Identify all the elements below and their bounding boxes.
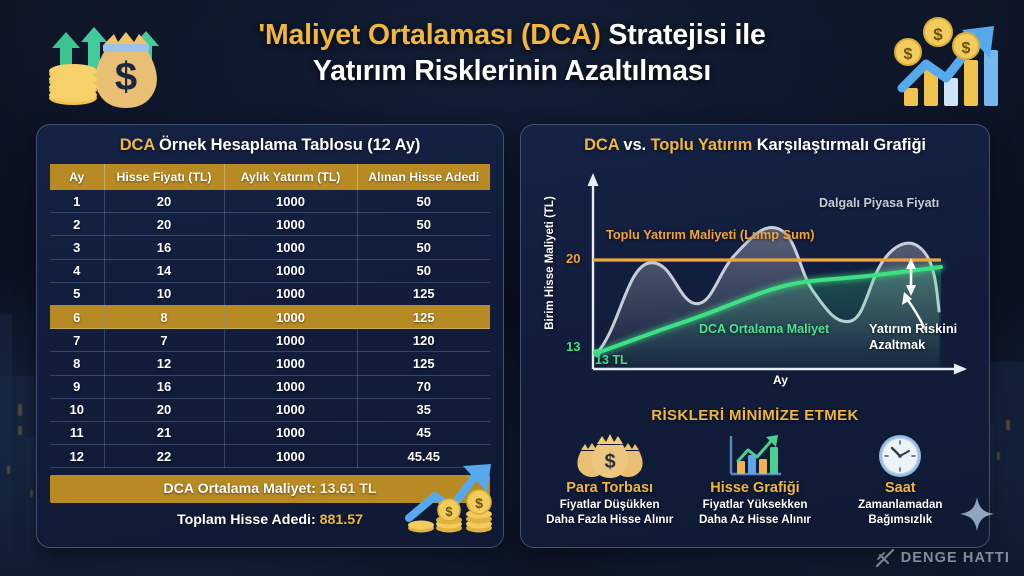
skyline-light xyxy=(30,490,33,497)
price-cell: 22 xyxy=(104,445,224,468)
price-cell: 20 xyxy=(104,213,224,236)
feature-desc-line-1: Fiyatlar Düşükken xyxy=(538,498,682,513)
table-row[interactable]: 5101000125 xyxy=(50,282,490,305)
shares-cell: 45 xyxy=(357,421,490,444)
table-title-rest: Örnek Hesaplama Tablosu (12 Ay) xyxy=(155,136,421,154)
chart-risk-annotation: Yatırım Riskini Azaltmak xyxy=(869,321,957,352)
table-row[interactable]: 681000125 xyxy=(50,305,490,328)
feature-card-para-torbasi: $ Para Torbası Fiyatlar Düşükken Daha Fa… xyxy=(538,433,682,528)
svg-text:$: $ xyxy=(445,504,453,519)
shares-cell: 70 xyxy=(357,375,490,398)
feature-title: Para Torbası xyxy=(538,480,682,496)
table-body: 1201000502201000503161000504141000505101… xyxy=(50,190,490,468)
investment-cell: 1000 xyxy=(224,259,357,282)
footer-total-value: 881.57 xyxy=(320,512,363,528)
price-cell: 10 xyxy=(104,282,224,305)
table-header-row: Ay Hisse Fiyatı (TL) Aylık Yatırım (TL) … xyxy=(50,164,490,190)
shares-cell: 125 xyxy=(357,352,490,375)
chart-title-dca: DCA xyxy=(584,136,619,154)
column-header-aylik-yatirim: Aylık Yatırım (TL) xyxy=(224,164,357,190)
investment-cell: 1000 xyxy=(224,421,357,444)
table-row[interactable]: 8121000125 xyxy=(50,352,490,375)
chart-y-axis-label: Birim Hisse Maliyeti (TL) xyxy=(544,189,556,337)
investment-cell: 1000 xyxy=(224,236,357,259)
month-cell: 3 xyxy=(50,236,104,259)
investment-cell: 1000 xyxy=(224,190,357,213)
investment-cell: 1000 xyxy=(224,305,357,328)
month-cell: 9 xyxy=(50,375,104,398)
month-cell: 5 xyxy=(50,282,104,305)
feature-desc-line-2: Bağımsızlık xyxy=(828,513,972,528)
shares-cell: 125 xyxy=(357,305,490,328)
investment-cell: 1000 xyxy=(224,282,357,305)
investment-cell: 1000 xyxy=(224,445,357,468)
feature-title: Saat xyxy=(828,480,972,496)
footer-total-label: Toplam Hisse Adedi: xyxy=(177,512,320,528)
investment-cell: 1000 xyxy=(224,352,357,375)
coin-stack-arrow-icon: $ $ xyxy=(405,456,497,541)
dca-calculation-table: Ay Hisse Fiyatı (TL) Aylık Yatırım (TL) … xyxy=(50,164,490,468)
month-cell: 6 xyxy=(50,305,104,328)
title-highlight-dca: 'Maliyet Ortalaması (DCA) xyxy=(258,19,600,51)
sparkle-icon xyxy=(960,497,994,536)
shares-cell: 120 xyxy=(357,329,490,352)
feature-title: Hisse Grafiği xyxy=(683,480,827,496)
chart-panel-title: DCA vs. Toplu Yatırım Karşılaştırmalı Gr… xyxy=(521,136,989,155)
skyline-light xyxy=(18,404,22,416)
column-header-ay: Ay xyxy=(50,164,104,190)
svg-text:$: $ xyxy=(604,451,615,473)
page-title-line-1: 'Maliyet Ortalaması (DCA) Stratejisi ile xyxy=(0,18,1024,54)
shares-cell: 35 xyxy=(357,398,490,421)
chart-title-toplu: Toplu Yatırım xyxy=(651,136,753,154)
watermark: DENGE HATTI xyxy=(874,547,1010,569)
chart-x-axis-label: Ay xyxy=(773,373,788,387)
month-cell: 12 xyxy=(50,445,104,468)
shares-cell: 125 xyxy=(357,282,490,305)
price-cell: 14 xyxy=(104,259,224,282)
denge-hatti-logo-icon xyxy=(874,547,896,569)
feature-card-saat: Saat Zamanlamadan Bağımsızlık xyxy=(828,433,972,528)
dca-vs-lumpsum-chart: Birim Hisse Maliyeti (TL) Ay 20 13 13 TL… xyxy=(521,161,990,393)
shares-cell: 50 xyxy=(357,213,490,236)
chart-dca-label: DCA Ortalama Maliyet xyxy=(699,322,829,336)
skyline-light xyxy=(7,466,10,474)
dca-table-panel: DCA Örnek Hesaplama Tablosu (12 Ay) Ay H… xyxy=(36,124,504,548)
price-cell: 12 xyxy=(104,352,224,375)
price-cell: 20 xyxy=(104,190,224,213)
risk-annotation-line-2: Azaltmak xyxy=(869,337,957,353)
chart-title-vs: vs. xyxy=(619,136,651,154)
footer-average-value: 13.61 TL xyxy=(320,481,377,497)
feature-description: Fiyatlar Yüksekken Daha Az Hisse Alınır xyxy=(683,498,827,528)
risk-section-heading: RİSKLERİ MİNİMİZE ETMEK xyxy=(521,407,989,424)
month-cell: 11 xyxy=(50,421,104,444)
month-cell: 7 xyxy=(50,329,104,352)
price-cell: 21 xyxy=(104,421,224,444)
comparison-chart-panel: DCA vs. Toplu Yatırım Karşılaştırmalı Gr… xyxy=(520,124,990,548)
feature-description: Zamanlamadan Bağımsızlık xyxy=(828,498,972,528)
chart-start-value-label: 13 TL xyxy=(595,353,628,367)
skyline-light xyxy=(1006,420,1010,430)
month-cell: 2 xyxy=(50,213,104,236)
column-header-alinan-hisse: Alınan Hisse Adedi xyxy=(357,164,490,190)
month-cell: 8 xyxy=(50,352,104,375)
svg-text:$: $ xyxy=(475,495,483,511)
price-cell: 16 xyxy=(104,236,224,259)
column-header-hisse-fiyati: Hisse Fiyatı (TL) xyxy=(104,164,224,190)
table-row[interactable]: 1121100045 xyxy=(50,421,490,444)
skyline-light xyxy=(18,426,22,435)
footer-average-label: DCA Ortalama Maliyet: xyxy=(163,481,319,497)
shares-cell: 50 xyxy=(357,236,490,259)
table-row[interactable]: 414100050 xyxy=(50,259,490,282)
skyline-block xyxy=(0,314,12,576)
feature-card-hisse-grafigi: Hisse Grafiği Fiyatlar Yüksekken Daha Az… xyxy=(683,433,827,528)
shares-cell: 50 xyxy=(357,190,490,213)
feature-desc-line-1: Fiyatlar Yüksekken xyxy=(683,498,827,513)
investment-cell: 1000 xyxy=(224,213,357,236)
table-row[interactable]: 771000120 xyxy=(50,329,490,352)
watermark-text: DENGE HATTI xyxy=(901,550,1010,566)
chart-lumpsum-label: Toplu Yatırım Maliyeti (Lump Sum) xyxy=(606,227,815,242)
price-cell: 20 xyxy=(104,398,224,421)
price-cell: 8 xyxy=(104,305,224,328)
month-cell: 1 xyxy=(50,190,104,213)
table-row[interactable]: 120100050 xyxy=(50,190,490,213)
chart-market-price-label: Dalgalı Piyasa Fiyatı xyxy=(819,196,939,210)
skyline-light xyxy=(997,452,1000,460)
feature-desc-line-2: Daha Az Hisse Alınır xyxy=(683,513,827,528)
chart-y-tick-13: 13 xyxy=(566,339,580,354)
investment-cell: 1000 xyxy=(224,398,357,421)
title-rest-1: Stratejisi ile xyxy=(601,19,766,51)
feature-cards-row: $ Para Torbası Fiyatlar Düşükken Daha Fa… xyxy=(537,433,973,528)
clock-icon xyxy=(828,433,972,479)
feature-description: Fiyatlar Düşükken Daha Fazla Hisse Alını… xyxy=(538,498,682,528)
bar-chart-icon xyxy=(683,433,827,479)
table-title-dca: DCA xyxy=(120,136,155,154)
chart-y-tick-20: 20 xyxy=(566,251,580,266)
page-title-line-2: Yatırım Risklerinin Azaltılması xyxy=(0,54,1024,90)
price-cell: 7 xyxy=(104,329,224,352)
chart-title-rest: Karşılaştırmalı Grafiği xyxy=(752,136,926,154)
table-row[interactable]: 220100050 xyxy=(50,213,490,236)
feature-desc-line-2: Daha Fazla Hisse Alınır xyxy=(538,513,682,528)
shares-cell: 50 xyxy=(357,259,490,282)
table-panel-title: DCA Örnek Hesaplama Tablosu (12 Ay) xyxy=(37,136,503,155)
table-row[interactable]: 1020100035 xyxy=(50,398,490,421)
feature-desc-line-1: Zamanlamadan xyxy=(828,498,972,513)
page-title: 'Maliyet Ortalaması (DCA) Stratejisi ile… xyxy=(0,18,1024,90)
month-cell: 4 xyxy=(50,259,104,282)
table-row[interactable]: 916100070 xyxy=(50,375,490,398)
investment-cell: 1000 xyxy=(224,375,357,398)
money-bags-icon: $ xyxy=(538,433,682,479)
risk-annotation-line-1: Yatırım Riskini xyxy=(869,321,957,337)
month-cell: 10 xyxy=(50,398,104,421)
investment-cell: 1000 xyxy=(224,329,357,352)
table-row[interactable]: 316100050 xyxy=(50,236,490,259)
price-cell: 16 xyxy=(104,375,224,398)
